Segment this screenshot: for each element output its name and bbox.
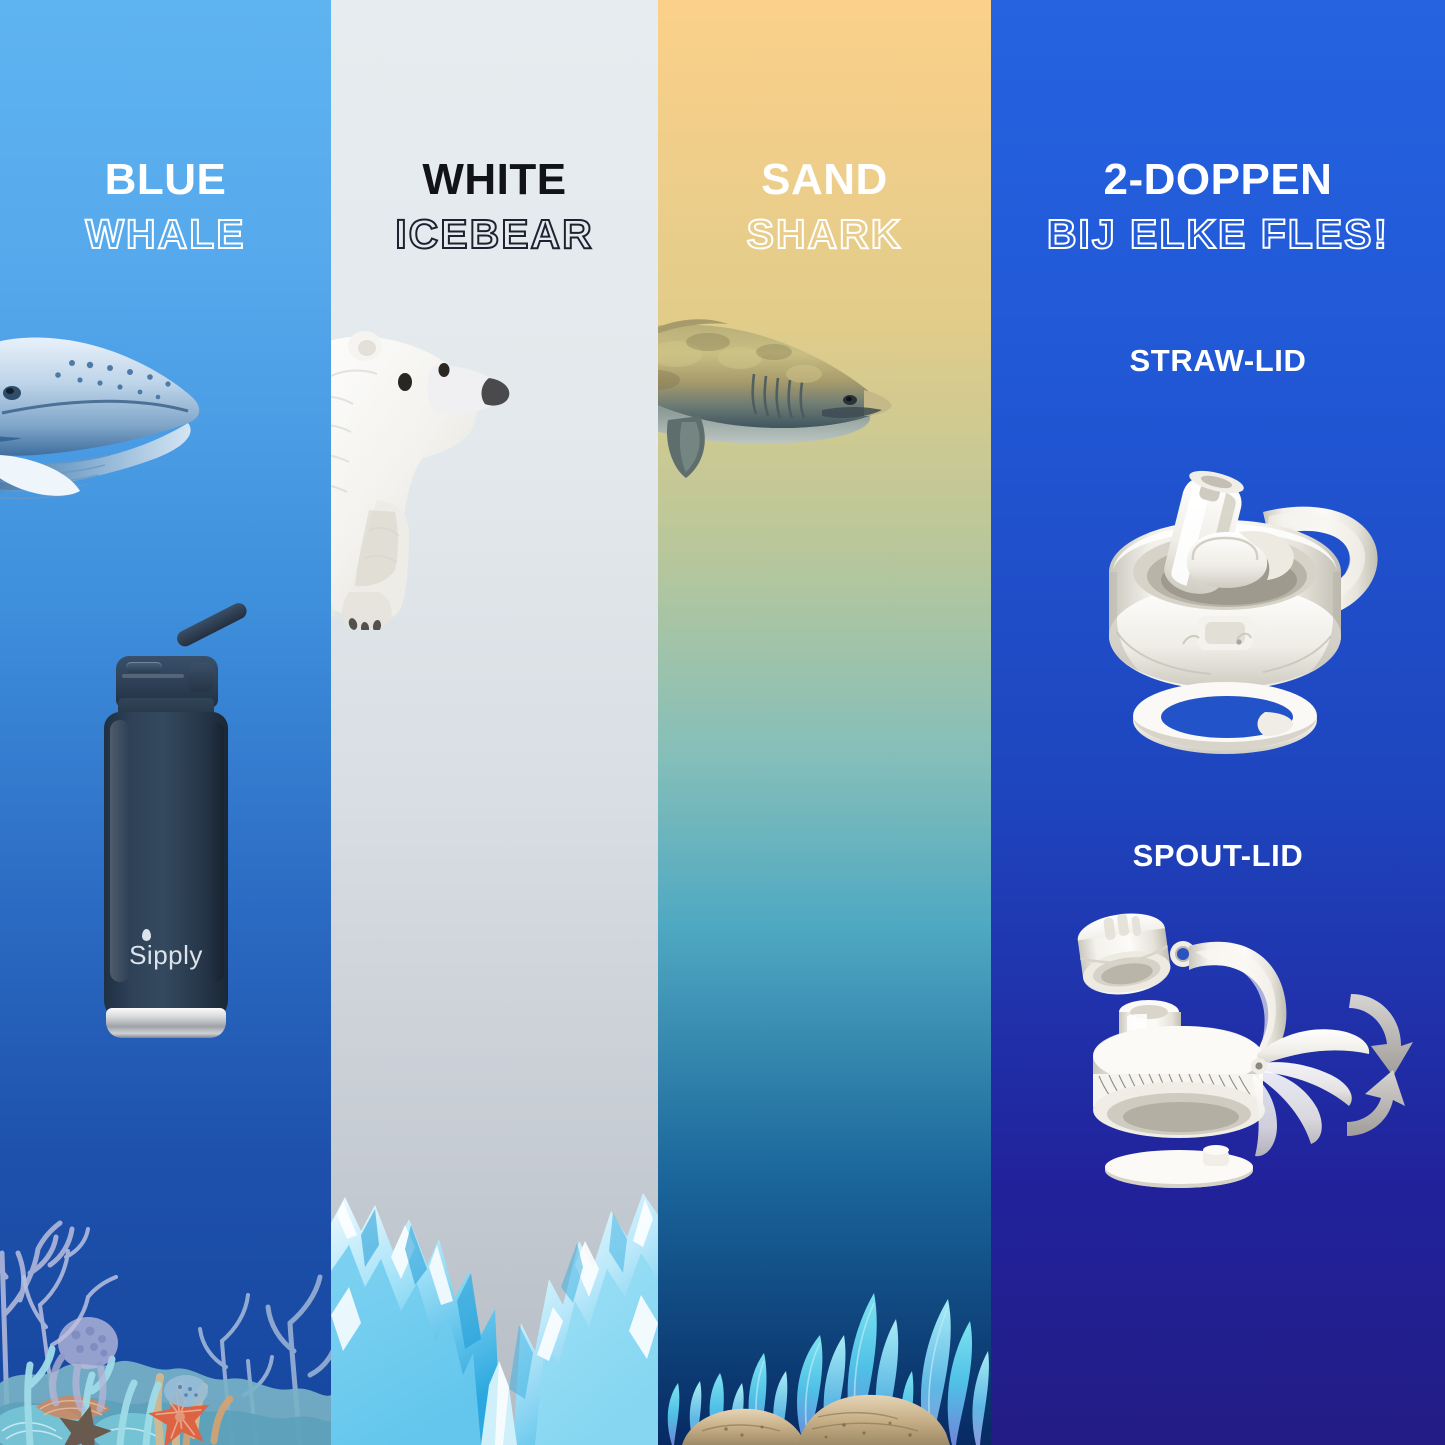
column-sand-shark[interactable]: SAND SHARK — [658, 0, 991, 1445]
spout-lid-label: SPOUT-LID — [991, 838, 1445, 874]
bottle-cap-button — [126, 662, 162, 673]
heading-line2: BIJ ELKE FLES! — [991, 209, 1445, 260]
straw-lid-label: STRAW-LID — [991, 343, 1445, 379]
logo-drop-icon — [142, 929, 151, 941]
column-two-lids[interactable]: 2-DOPPEN BIJ ELKE FLES! STRAW-LID — [991, 0, 1445, 1445]
iceberg-scene — [331, 1175, 658, 1445]
heading-line2: WHALE — [0, 209, 331, 260]
bottle-logo: Sipply — [92, 940, 240, 971]
straw-lid-illustration — [1087, 420, 1387, 760]
heading-white-icebear: WHITE ICEBEAR — [331, 157, 658, 260]
heading-two-lids: 2-DOPPEN BIJ ELKE FLES! — [991, 157, 1445, 260]
heading-blue-whale: BLUE WHALE — [0, 157, 331, 260]
spout-lid-illustration — [1053, 898, 1413, 1198]
bottle-blue-whale[interactable]: Sipply — [92, 640, 240, 1040]
heading-line1: SAND — [658, 157, 991, 203]
polar-bear-illustration — [331, 330, 613, 630]
humpback-whale-illustration — [0, 325, 270, 540]
heading-line1: 2-DOPPEN — [991, 157, 1445, 203]
column-blue-whale[interactable]: BLUE WHALE — [0, 0, 331, 1445]
bottle-body — [104, 712, 228, 1022]
logo-text: Sipply — [129, 940, 203, 970]
bottle-hinge — [188, 662, 214, 692]
sand-tiger-shark-illustration — [658, 318, 936, 518]
bottle-cap-highlight — [122, 674, 184, 678]
heading-line1: BLUE — [0, 157, 331, 203]
bottle-base-ring — [106, 1008, 226, 1038]
bottle-handle — [174, 600, 249, 649]
seaweed-rock-scene — [658, 1255, 991, 1445]
heading-sand-shark: SAND SHARK — [658, 157, 991, 260]
column-white-icebear[interactable]: WHITE ICEBEAR — [331, 0, 658, 1445]
coral-reef-scene — [0, 1145, 331, 1445]
heading-line2: SHARK — [658, 209, 991, 260]
heading-line2: ICEBEAR — [331, 209, 658, 260]
product-color-poster: BLUE WHALE — [0, 0, 1445, 1445]
heading-line1: WHITE — [331, 157, 658, 203]
